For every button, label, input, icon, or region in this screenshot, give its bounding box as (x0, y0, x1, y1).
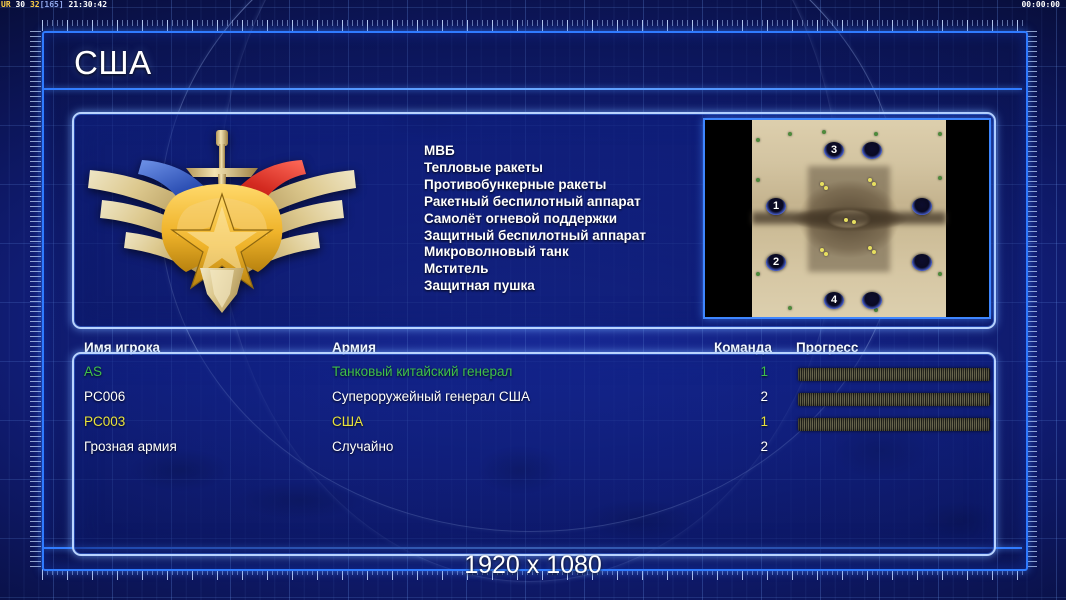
unit-item: Противобункерные ракеты (424, 177, 704, 194)
unit-item: Тепловые ракеты (424, 160, 704, 177)
ruler-left (30, 31, 41, 567)
player-name: Грозная армия (84, 439, 177, 454)
player-team: 2 (742, 439, 768, 454)
player-army: Случайно (332, 439, 393, 454)
unit-item: Защитная пушка (424, 278, 704, 295)
player-team: 1 (742, 414, 768, 429)
unit-list: МВБ Тепловые ракеты Противобункерные рак… (424, 143, 704, 295)
usa-eagle-emblem (82, 128, 362, 313)
session-timer: 00:00:00 (1021, 0, 1060, 9)
player-name: PC006 (84, 389, 125, 404)
minimap-start-position-empty[interactable] (912, 198, 932, 215)
player-army: США (332, 414, 363, 429)
unit-item: Ракетный беспилотный аппарат (424, 194, 704, 211)
minimap-start-position-4[interactable]: 4 (824, 292, 844, 309)
player-name: PC003 (84, 414, 125, 429)
page-title: США (74, 44, 152, 82)
minimap[interactable]: 1234 (703, 118, 991, 319)
unit-item: Микроволновый танк (424, 244, 704, 261)
unit-item: Самолёт огневой поддержки (424, 211, 704, 228)
debug-value-1: 30 (15, 0, 25, 9)
player-team: 2 (742, 389, 768, 404)
debug-tag: UR (1, 0, 11, 9)
player-army: Танковый китайский генерал (332, 364, 512, 379)
player-team: 1 (742, 364, 768, 379)
top-status-bar: UR 30 32[165] 21:30:42 00:00:00 (0, 0, 1066, 9)
debug-clock: 21:30:42 (69, 0, 108, 9)
resolution-label: 1920 x 1080 (0, 551, 1066, 580)
table-row[interactable]: PC003США1 (74, 414, 992, 439)
ruler-top (42, 20, 1024, 31)
progress-bar (798, 393, 990, 406)
minimap-start-position-3[interactable]: 3 (824, 142, 844, 159)
title-divider (44, 88, 1022, 90)
game-lobby-screen: UR 30 32[165] 21:30:42 00:00:00 США (0, 0, 1066, 600)
table-row[interactable]: Грозная армияСлучайно2 (74, 439, 992, 464)
minimap-start-position-1[interactable]: 1 (766, 198, 786, 215)
table-row[interactable]: PC006Супероружейный генерал США2 (74, 389, 992, 414)
minimap-start-position-empty[interactable] (912, 254, 932, 271)
minimap-start-position-empty[interactable] (862, 292, 882, 309)
progress-bar (798, 368, 990, 381)
player-army: Супероружейный генерал США (332, 389, 530, 404)
progress-bar (798, 418, 990, 431)
minimap-terrain: 1234 (752, 120, 946, 317)
debug-bracket: [165] (40, 0, 64, 9)
table-row[interactable]: ASТанковый китайский генерал1 (74, 364, 992, 389)
debug-value-2: 32 (30, 0, 40, 9)
unit-item: Защитный беспилотный аппарат (424, 228, 704, 245)
debug-stats: UR 30 32[165] 21:30:42 (1, 0, 107, 9)
minimap-start-position-empty[interactable] (862, 142, 882, 159)
player-name: AS (84, 364, 102, 379)
unit-item: Мститель (424, 261, 704, 278)
unit-item: МВБ (424, 143, 704, 160)
minimap-start-position-2[interactable]: 2 (766, 254, 786, 271)
